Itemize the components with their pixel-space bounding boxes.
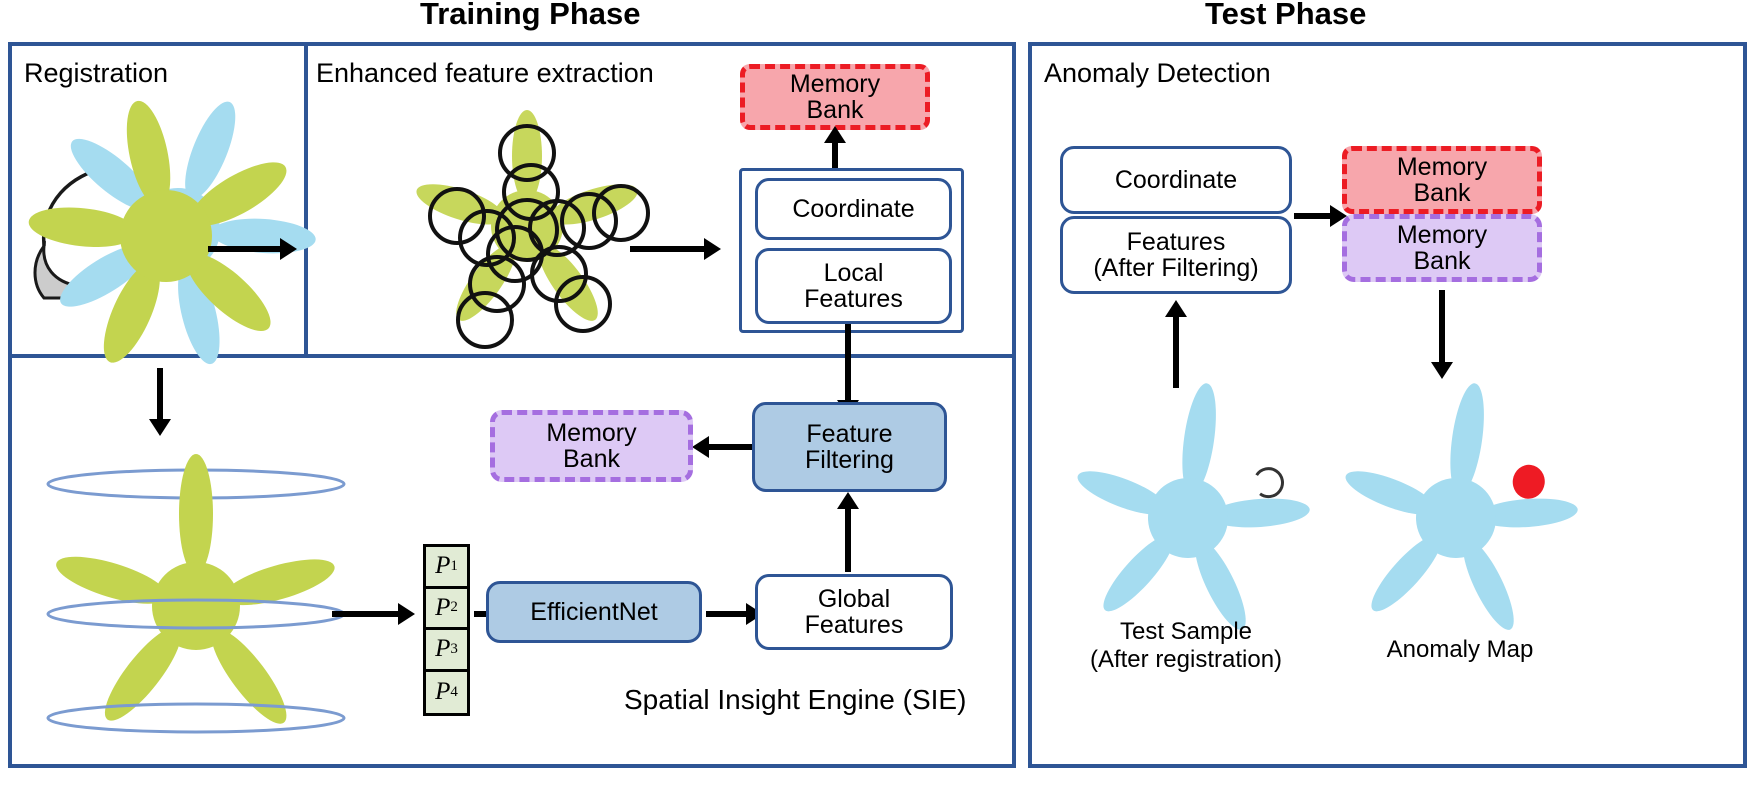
features-line2: (After Filtering) [1093, 255, 1258, 282]
global-features-box[interactable]: Global Features [755, 574, 953, 650]
test-sample-caption: Test Sample (After registration) [1056, 618, 1316, 675]
arrow-registration-to-extraction [208, 246, 282, 252]
memory-bank-label-line2: Bank [1414, 248, 1471, 275]
test-sample-illustration [1070, 398, 1320, 628]
pyramid-p2-sub: 2 [450, 599, 458, 616]
pyramid-cell-p1: P1 [426, 547, 467, 589]
arrow-head-right [280, 238, 297, 260]
memory-bank-red-test[interactable]: Memory Bank [1342, 146, 1542, 214]
section-label-registration: Registration [24, 58, 168, 89]
arrow-head-down [1431, 362, 1453, 379]
features-line1: Features [1127, 229, 1226, 256]
efficientnet-box[interactable]: EfficientNet [486, 581, 702, 643]
pyramid-p1-label: P [435, 552, 450, 580]
global-features-line2: Features [805, 612, 904, 639]
local-features-box[interactable]: Local Features [755, 248, 952, 324]
arrow-head-up [1165, 300, 1187, 317]
pyramid-p3-sub: 3 [450, 641, 458, 658]
pyramid-cell-p3: P3 [426, 630, 467, 672]
training-phase-title: Training Phase [420, 0, 641, 32]
memory-bank-label-line2: Bank [563, 446, 620, 473]
arrow-head-up [837, 492, 859, 509]
anomaly-red-dot [1511, 463, 1547, 501]
arrow-extraction-to-features [630, 246, 706, 252]
local-features-line1: Local [824, 260, 884, 287]
feature-filtering-line2: Filtering [805, 447, 894, 474]
arrow-registration-to-slices [157, 368, 163, 422]
arrow-head-up [824, 126, 846, 143]
arrow-slices-to-pyramid [332, 611, 400, 617]
sie-label: Spatial Insight Engine (SIE) [624, 684, 966, 716]
section-label-enhanced-feature-extraction: Enhanced feature extraction [316, 58, 654, 89]
arrow-head-right [704, 238, 721, 260]
memory-bank-label-line2: Bank [1414, 180, 1471, 207]
anomaly-map-illustration [1338, 398, 1588, 628]
memory-bank-label-line2: Bank [807, 97, 864, 124]
features-after-filtering-box[interactable]: Features (After Filtering) [1060, 216, 1292, 294]
arrow-features-to-memory-banks [1294, 213, 1334, 219]
memory-bank-label-line1: Memory [546, 420, 636, 447]
pyramid-p3-label: P [435, 635, 450, 663]
memory-bank-label-line1: Memory [1397, 222, 1487, 249]
arrow-filtering-to-memory-bank-purple [708, 444, 752, 450]
pyramid-feature-stack: P1 P2 P3 P4 [423, 544, 470, 716]
arrow-global-to-filtering [845, 504, 851, 572]
arrow-efficientnet-to-global [706, 611, 750, 617]
coordinate-box-training[interactable]: Coordinate [755, 178, 952, 240]
feature-filtering-box[interactable]: Feature Filtering [752, 402, 947, 492]
memory-bank-purple-test[interactable]: Memory Bank [1342, 214, 1542, 282]
pyramid-cell-p2: P2 [426, 589, 467, 631]
registration-illustration [26, 106, 304, 346]
arrow-local-features-to-filtering [845, 324, 851, 404]
pyramid-p4-sub: 4 [450, 684, 458, 701]
training-row-divider [12, 354, 1012, 358]
local-features-line2: Features [804, 286, 903, 313]
arrow-head-right [398, 603, 415, 625]
memory-bank-purple-training[interactable]: Memory Bank [490, 410, 693, 482]
pyramid-cell-p4: P4 [426, 672, 467, 714]
slicing-illustration [28, 426, 358, 758]
arrow-head-left [692, 436, 709, 458]
feature-filtering-line1: Feature [806, 421, 892, 448]
test-phase-panel: Anomaly Detection Coordinate Features (A… [1028, 42, 1747, 768]
pyramid-p4-label: P [435, 678, 450, 706]
memory-bank-red-training[interactable]: Memory Bank [740, 64, 930, 130]
slice-plane-bottom [48, 704, 344, 732]
pyramid-p2-label: P [435, 594, 450, 622]
pyramid-p1-sub: 1 [450, 558, 458, 575]
coordinate-box-test[interactable]: Coordinate [1060, 146, 1292, 214]
patch-extraction-illustration [367, 108, 697, 348]
global-features-line1: Global [818, 586, 890, 613]
memory-bank-label-line1: Memory [790, 71, 880, 98]
test-phase-title: Test Phase [1205, 0, 1366, 32]
training-phase-panel: Registration Enhanced feature extraction [8, 42, 1016, 768]
arrow-test-sample-to-features [1173, 312, 1179, 388]
training-col-divider [304, 46, 308, 354]
test-sample-caption-line2: (After registration) [1056, 646, 1316, 674]
test-sample-caption-line1: Test Sample [1056, 618, 1316, 646]
defect-outline [1254, 467, 1284, 498]
section-label-anomaly-detection: Anomaly Detection [1044, 58, 1271, 89]
diagram-canvas: Training Phase Test Phase Registration E… [0, 0, 1755, 785]
anomaly-map-caption: Anomaly Map [1330, 636, 1590, 664]
memory-bank-label-line1: Memory [1397, 154, 1487, 181]
arrow-memory-banks-to-anomaly-map [1439, 290, 1445, 366]
